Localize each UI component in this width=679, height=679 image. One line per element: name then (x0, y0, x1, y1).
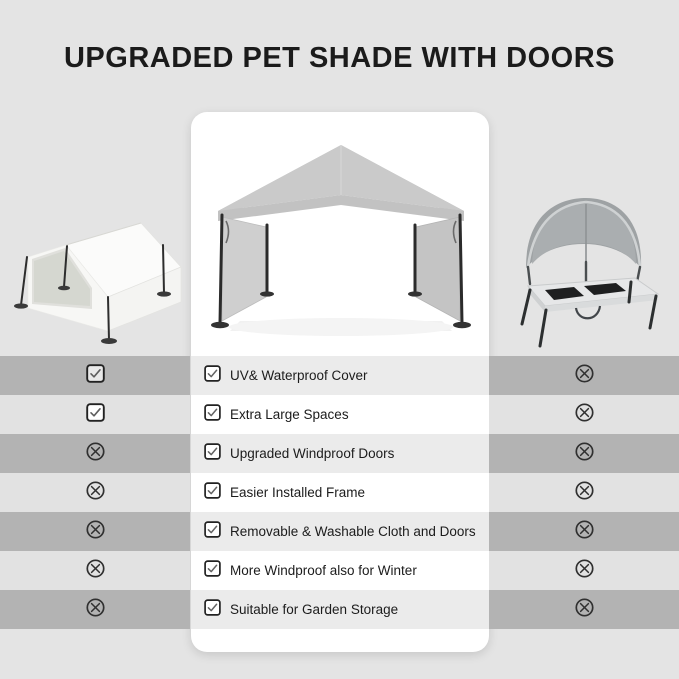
check-icon (204, 599, 221, 621)
center-feature-list: UV& Waterproof Cover Extra Large Spaces … (191, 356, 489, 629)
center-feature-row: Upgraded Windproof Doors (191, 434, 489, 473)
center-feature-row: More Windproof also for Winter (191, 551, 489, 590)
left-comparison-cell (0, 356, 190, 395)
cross-icon (575, 598, 594, 622)
left-product-image (8, 205, 188, 350)
right-comparison-cell (489, 590, 679, 629)
right-product-image (498, 190, 673, 352)
check-icon (204, 443, 221, 465)
check-icon (204, 482, 221, 504)
right-comparison-cell (489, 473, 679, 512)
cross-icon (575, 481, 594, 505)
left-comparison-cell (0, 512, 190, 551)
featured-product-card: UV& Waterproof Cover Extra Large Spaces … (191, 112, 489, 652)
right-comparison-cell (489, 395, 679, 434)
check-icon (204, 560, 221, 582)
cross-icon (86, 559, 105, 583)
cross-icon (575, 403, 594, 427)
feature-label: Removable & Washable Cloth and Doors (230, 524, 476, 539)
left-comparison-cell (0, 395, 190, 434)
center-feature-row: UV& Waterproof Cover (191, 356, 489, 395)
cross-icon (86, 598, 105, 622)
left-comparison-cell (0, 473, 190, 512)
feature-label: Easier Installed Frame (230, 485, 365, 500)
check-icon (86, 364, 105, 388)
check-icon (204, 404, 221, 426)
center-feature-row: Suitable for Garden Storage (191, 590, 489, 629)
right-comparison-cell (489, 434, 679, 473)
cross-icon (575, 520, 594, 544)
check-icon (204, 365, 221, 387)
cross-icon (575, 364, 594, 388)
left-comparison-column (0, 356, 190, 629)
cross-icon (575, 559, 594, 583)
cross-icon (86, 520, 105, 544)
feature-label: More Windproof also for Winter (230, 563, 417, 578)
check-icon (86, 403, 105, 427)
feature-label: Suitable for Garden Storage (230, 602, 398, 617)
left-comparison-cell (0, 551, 190, 590)
center-feature-row: Easier Installed Frame (191, 473, 489, 512)
center-feature-row: Extra Large Spaces (191, 395, 489, 434)
right-comparison-column (489, 356, 679, 629)
feature-label: Extra Large Spaces (230, 407, 349, 422)
center-product-image (200, 135, 482, 345)
check-icon (204, 521, 221, 543)
feature-label: Upgraded Windproof Doors (230, 446, 394, 461)
page-title: UPGRADED PET SHADE WITH DOORS (0, 42, 679, 75)
left-comparison-cell (0, 590, 190, 629)
center-feature-row: Removable & Washable Cloth and Doors (191, 512, 489, 551)
right-comparison-cell (489, 356, 679, 395)
cross-icon (86, 442, 105, 466)
cross-icon (575, 442, 594, 466)
cross-icon (86, 481, 105, 505)
left-comparison-cell (0, 434, 190, 473)
right-comparison-cell (489, 551, 679, 590)
right-comparison-cell (489, 512, 679, 551)
feature-label: UV& Waterproof Cover (230, 368, 368, 383)
